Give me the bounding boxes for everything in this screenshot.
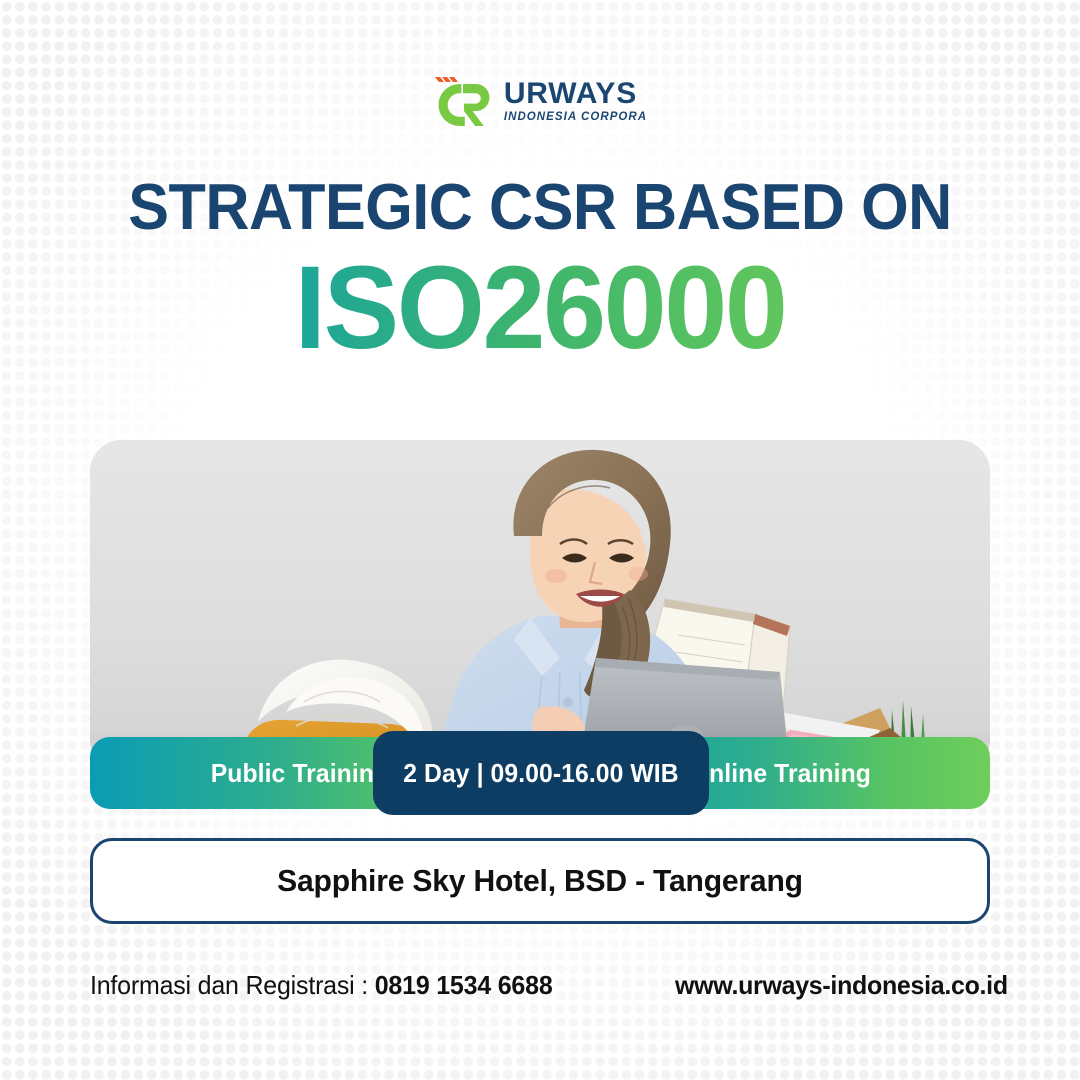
- woman-in-hijab-working-on-laptop-photo: [90, 440, 990, 772]
- contact-info: Informasi dan Registrasi : 0819 1534 668…: [90, 970, 553, 1001]
- contact-prefix-label: Informasi dan Registrasi :: [90, 970, 375, 1000]
- website-url: www.urways-indonesia.co.id: [675, 970, 1008, 1001]
- info-bar-center-badge: 2 Day | 09.00-16.00 WIB: [373, 731, 709, 815]
- training-poster: URWAYS INDONESIA CORPORA STRATEGIC CSR B…: [0, 0, 1080, 1080]
- brand-wordmark: URWAYS INDONESIA CORPORA: [504, 79, 647, 124]
- photo-scene: [90, 440, 990, 772]
- brand-name: URWAYS: [504, 79, 637, 109]
- headline-block: STRATEGIC CSR BASED ON ISO26000: [0, 172, 1080, 368]
- headline-line-2: ISO26000: [22, 248, 1059, 368]
- urways-r-monogram-icon: [433, 75, 493, 127]
- triple-chevron-icon: [435, 77, 458, 82]
- brand-tagline: INDONESIA CORPORA: [504, 112, 647, 124]
- brand-logo: URWAYS INDONESIA CORPORA: [0, 72, 1080, 130]
- contact-phone: 0819 1534 6688: [375, 970, 553, 1000]
- online-training-label: Online Training: [689, 758, 870, 789]
- public-training-label: Public Training: [211, 758, 389, 789]
- duration-time-label: 2 Day | 09.00-16.00 WIB: [403, 758, 678, 789]
- training-info-bar: Public Training Online Training 2 Day | …: [90, 737, 990, 809]
- footer: Informasi dan Registrasi : 0819 1534 668…: [90, 966, 990, 1004]
- headline-line-1: STRATEGIC CSR BASED ON: [32, 172, 1047, 242]
- venue-label: Sapphire Sky Hotel, BSD - Tangerang: [277, 863, 803, 899]
- venue-box: Sapphire Sky Hotel, BSD - Tangerang: [90, 838, 990, 924]
